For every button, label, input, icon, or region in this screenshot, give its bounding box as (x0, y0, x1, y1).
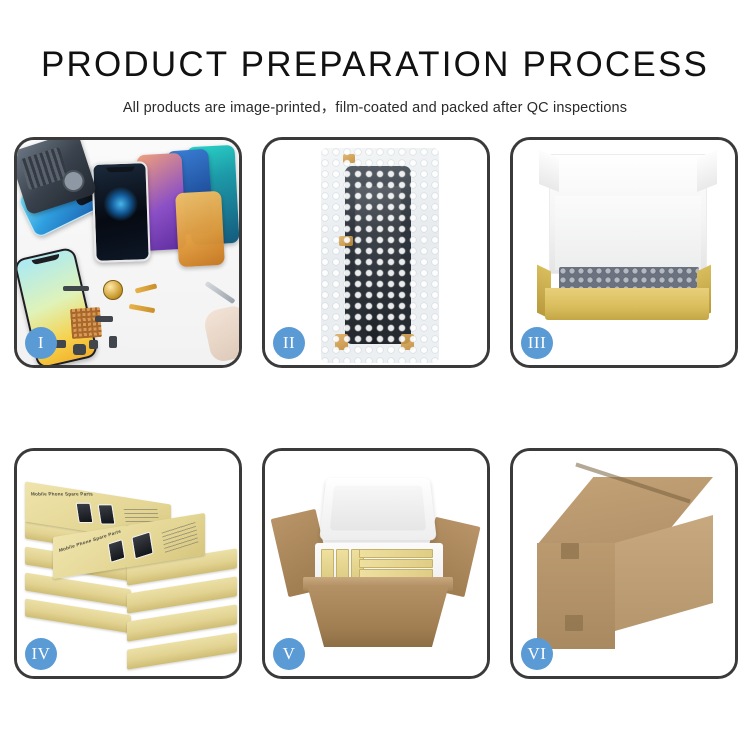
camera-module-icon (73, 344, 86, 355)
step-panel-6[interactable]: VI (510, 448, 738, 679)
page-title: PRODUCT PREPARATION PROCESS (0, 47, 750, 82)
box-art-phone-b (98, 504, 116, 524)
box-art-phone-d (131, 531, 153, 559)
box-label-top: Mobile Phone Spare Parts (31, 491, 94, 496)
step-badge-3: III (521, 327, 553, 359)
step-badge-4: IV (25, 638, 57, 670)
poster-root: PRODUCT PREPARATION PROCESS All products… (0, 0, 750, 750)
carton-tape-lower-icon (565, 615, 583, 631)
box-spec-lines-second (161, 521, 198, 553)
yellow-box-h2 (359, 559, 433, 568)
kraft-box-front-icon (545, 288, 709, 320)
step-panel-3[interactable]: III (510, 137, 738, 368)
box-stack: Mobile Phone Spare Parts Mobile Phone Sp… (23, 469, 239, 669)
carton-body-icon (307, 585, 449, 647)
step-panel-2[interactable]: II (262, 137, 490, 368)
foam-box-lid-icon (319, 478, 437, 540)
technician-hand-icon (202, 304, 239, 363)
foam-sheet-icon (555, 196, 701, 270)
ic-chip-icon (89, 340, 98, 349)
box-art-phone-a (76, 503, 94, 523)
step-panel-5[interactable]: V (262, 448, 490, 679)
step-badge-2: II (273, 327, 305, 359)
step-panel-4[interactable]: Mobile Phone Spare Parts Mobile Phone Sp… (14, 448, 242, 679)
step-badge-6: VI (521, 638, 553, 670)
step-panel-1[interactable]: I (14, 137, 242, 368)
bubble-wrap-pouch (321, 148, 439, 363)
header: PRODUCT PREPARATION PROCESS All products… (0, 0, 750, 117)
screw-grid-icon (70, 307, 102, 339)
flex-cable-a-icon (135, 283, 158, 293)
phone-gold-icon (175, 191, 225, 267)
vibration-motor-icon (109, 336, 117, 348)
yellow-box-h1 (359, 549, 433, 558)
process-grid: I II (14, 137, 738, 679)
screen-protector-icon (91, 161, 150, 263)
tweezers-icon (205, 281, 236, 304)
flex-cable-b-icon (129, 304, 155, 313)
step-badge-5: V (273, 638, 305, 670)
box-art-phone-c (108, 539, 126, 563)
carton-tape-upper-icon (561, 543, 579, 559)
bubble-texture (321, 148, 439, 363)
page-subtitle: All products are image-printed，film-coat… (0, 96, 750, 117)
antenna-strip-icon (63, 286, 89, 291)
shield-plate-icon (95, 316, 113, 322)
speaker-module-icon (103, 280, 123, 300)
step-badge-1: I (25, 327, 57, 359)
